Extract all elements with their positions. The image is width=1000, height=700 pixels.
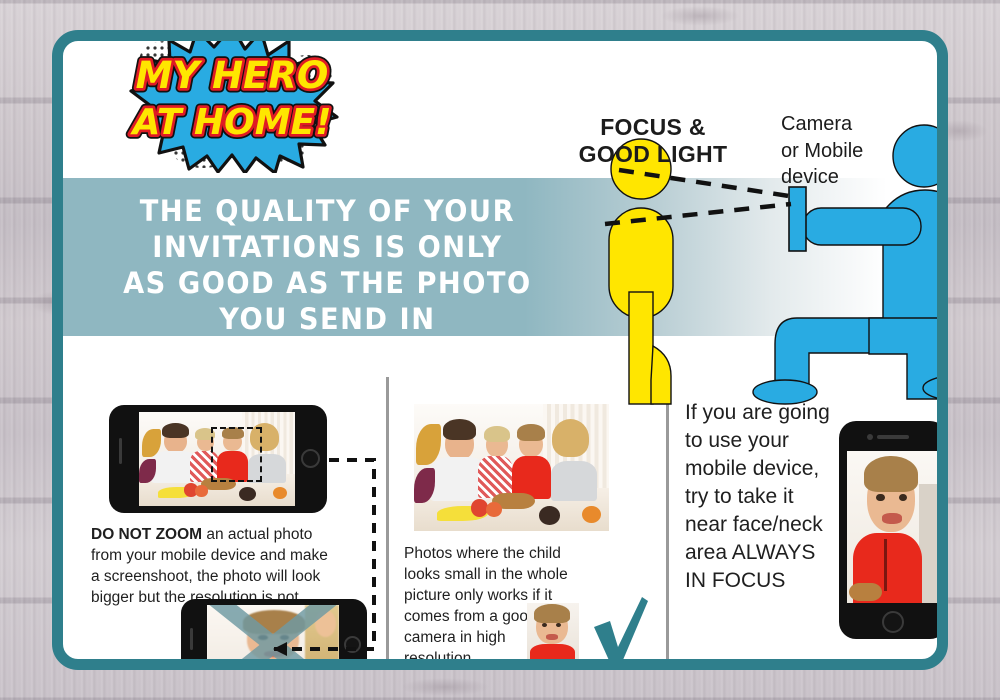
camera-device-label: Camera or Mobile device bbox=[781, 111, 921, 191]
logo-line-1: MY HERO bbox=[136, 54, 329, 97]
headline-line-2: INVITATIONS IS ONLY bbox=[83, 230, 572, 266]
cross-out-x-icon bbox=[207, 605, 339, 670]
focus-label-line-1: FOCUS & bbox=[563, 114, 743, 141]
phone-home-button-icon bbox=[301, 449, 320, 468]
focus-good-light-label: FOCUS & GOOD LIGHT bbox=[563, 114, 743, 168]
camera-label-line-2: or Mobile bbox=[781, 138, 921, 165]
headline-line-4: YOU SEND IN bbox=[83, 302, 572, 338]
child-figure-icon bbox=[609, 139, 673, 404]
do-not-zoom-emphasis: DO NOT ZOOM bbox=[91, 526, 202, 543]
column-divider bbox=[666, 377, 669, 670]
my-hero-at-home-logo: MY HERO MY HERO MY HERO AT HOME! AT HOME… bbox=[125, 30, 339, 173]
column-near-face: If you are going to use your mobile devi… bbox=[675, 371, 937, 670]
phone-home-button-icon bbox=[344, 636, 361, 653]
phone-screen bbox=[139, 412, 295, 506]
child-portrait-image bbox=[847, 451, 939, 603]
do-not-zoom-caption: DO NOT ZOOM an actual photo from your mo… bbox=[91, 524, 335, 608]
column-wide-shot: Photos where the child looks small in th… bbox=[396, 371, 658, 670]
camera-label-line-3: device bbox=[781, 164, 921, 191]
phone-portrait-child-portrait bbox=[839, 421, 947, 639]
checkmark-icon bbox=[588, 595, 650, 670]
phone-screen bbox=[207, 605, 339, 670]
infographic-card: THE QUALITY OF YOUR INVITATIONS IS ONLY … bbox=[52, 30, 948, 670]
logo-line-2: AT HOME! bbox=[129, 102, 331, 143]
phone-screen bbox=[847, 451, 939, 603]
phone-speaker-icon bbox=[190, 628, 193, 650]
wood-texture-knot bbox=[660, 6, 740, 26]
child-portrait-thumbnail bbox=[527, 603, 579, 665]
phone-landscape-family-photo bbox=[109, 405, 327, 513]
focus-label-line-2: GOOD LIGHT bbox=[563, 141, 743, 168]
column-divider bbox=[386, 377, 389, 670]
headline-line-3: AS GOOD AS THE PHOTO bbox=[83, 266, 572, 302]
zoom-selection-box bbox=[211, 427, 262, 482]
headline-text: THE QUALITY OF YOUR INVITATIONS IS ONLY … bbox=[83, 194, 572, 338]
wood-texture-knot bbox=[400, 678, 490, 696]
family-wide-photo-image bbox=[414, 404, 609, 531]
phone-camera-icon bbox=[867, 434, 873, 440]
phone-landscape-zoomed-photo bbox=[181, 599, 367, 670]
camera-label-line-1: Camera bbox=[781, 111, 921, 138]
column-do-not-zoom: DO NOT ZOOM an actual photo from your mo… bbox=[77, 371, 382, 670]
headline-line-1: THE QUALITY OF YOUR bbox=[83, 194, 572, 230]
phone-speaker-icon bbox=[877, 435, 909, 439]
near-face-caption: If you are going to use your mobile devi… bbox=[685, 399, 831, 594]
phone-speaker-icon bbox=[119, 438, 122, 464]
three-column-section: DO NOT ZOOM an actual photo from your mo… bbox=[63, 371, 937, 670]
phone-home-button-icon bbox=[882, 611, 904, 633]
